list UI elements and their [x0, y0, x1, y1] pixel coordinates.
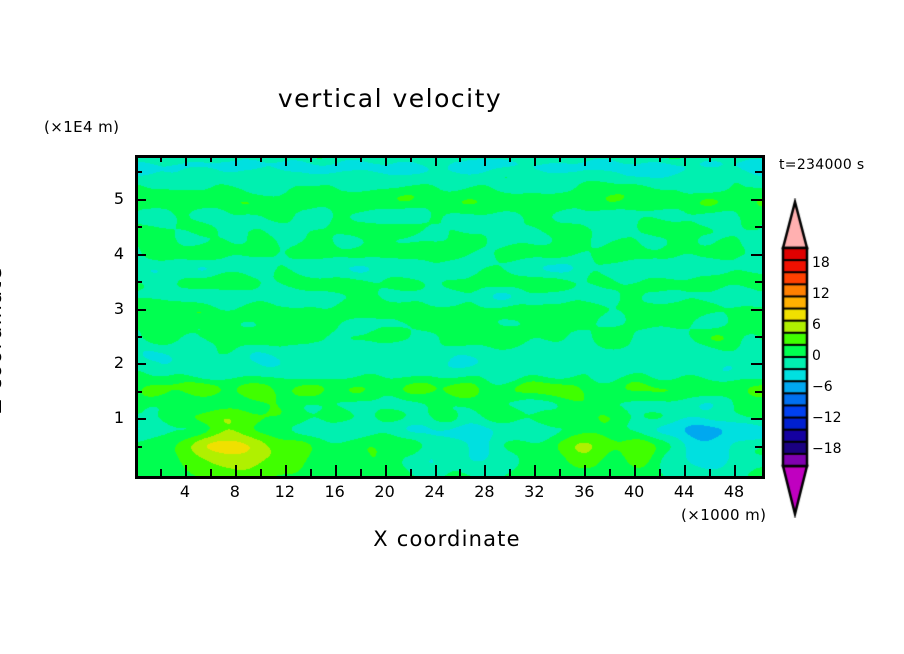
y-minor-tick-right	[755, 336, 762, 338]
y-major-tick-right	[751, 199, 762, 201]
x-minor-tick	[509, 469, 511, 476]
x-minor-tick	[559, 469, 561, 476]
x-minor-tick	[459, 469, 461, 476]
colorbar-tick-label: −12	[812, 410, 842, 426]
y-minor-tick-right	[755, 226, 762, 228]
y-minor-tick	[135, 336, 142, 338]
y-major-tick	[135, 418, 146, 420]
colorbar-tick-label: −18	[812, 441, 842, 457]
x-major-tick-top	[684, 155, 686, 166]
x-tick-label: 16	[315, 482, 355, 501]
x-axis-unit-label: (×1000 m)	[681, 506, 766, 524]
x-tick-label: 40	[614, 482, 654, 501]
x-axis-title: X coordinate	[135, 527, 759, 551]
x-tick-label: 32	[514, 482, 554, 501]
y-minor-tick	[135, 391, 142, 393]
x-major-tick	[335, 465, 337, 476]
x-major-tick	[435, 465, 437, 476]
x-tick-label: 4	[165, 482, 205, 501]
y-major-tick-right	[751, 254, 762, 256]
y-major-tick-right	[751, 309, 762, 311]
y-axis-unit-label: (×1E4 m)	[44, 118, 119, 136]
x-major-tick-top	[385, 155, 387, 166]
y-tick-label: 3	[84, 299, 124, 318]
x-minor-tick-top	[210, 155, 212, 162]
colorbar-tick-label: 18	[812, 255, 830, 271]
y-major-tick-right	[751, 418, 762, 420]
x-minor-tick	[260, 469, 262, 476]
y-tick-label: 5	[84, 189, 124, 208]
x-major-tick	[185, 465, 187, 476]
x-major-tick	[634, 465, 636, 476]
y-minor-tick	[135, 171, 142, 173]
x-major-tick	[285, 465, 287, 476]
x-major-tick	[385, 465, 387, 476]
x-tick-label: 24	[415, 482, 455, 501]
x-major-tick-top	[185, 155, 187, 166]
x-major-tick-top	[435, 155, 437, 166]
colorbar-tick-label: −6	[812, 379, 833, 395]
y-minor-tick-right	[755, 391, 762, 393]
y-tick-label: 4	[84, 244, 124, 263]
x-minor-tick	[360, 469, 362, 476]
timestamp-annotation: t=234000 s	[779, 157, 864, 173]
x-major-tick	[235, 465, 237, 476]
x-minor-tick-top	[659, 155, 661, 162]
y-minor-tick-right	[755, 446, 762, 448]
y-major-tick	[135, 199, 146, 201]
x-minor-tick	[609, 469, 611, 476]
x-minor-tick	[160, 469, 162, 476]
x-tick-label: 36	[564, 482, 604, 501]
x-tick-label: 44	[664, 482, 704, 501]
x-minor-tick-top	[709, 155, 711, 162]
y-axis-title: Z coordinate	[0, 240, 6, 440]
x-major-tick-top	[335, 155, 337, 166]
x-major-tick	[534, 465, 536, 476]
colorbar-tick-label: 0	[812, 348, 821, 364]
y-tick-label: 2	[84, 353, 124, 372]
x-tick-label: 8	[215, 482, 255, 501]
x-major-tick	[484, 465, 486, 476]
chart-title: vertical velocity	[0, 84, 780, 113]
x-minor-tick-top	[459, 155, 461, 162]
x-minor-tick-top	[310, 155, 312, 162]
y-minor-tick	[135, 446, 142, 448]
contour-field-canvas	[138, 158, 762, 476]
x-minor-tick-top	[509, 155, 511, 162]
x-minor-tick-top	[559, 155, 561, 162]
colorbar-tick-label: 6	[812, 317, 821, 333]
figure-root: vertical velocity (×1E4 m) t=234000 s 48…	[0, 0, 904, 654]
x-minor-tick-top	[609, 155, 611, 162]
y-minor-tick	[135, 281, 142, 283]
x-minor-tick-top	[360, 155, 362, 162]
x-tick-label: 28	[464, 482, 504, 501]
x-minor-tick-top	[160, 155, 162, 162]
y-major-tick	[135, 309, 146, 311]
x-major-tick-top	[285, 155, 287, 166]
x-major-tick-top	[584, 155, 586, 166]
y-minor-tick-right	[755, 281, 762, 283]
contour-plot-area[interactable]	[135, 155, 765, 479]
y-major-tick	[135, 254, 146, 256]
y-tick-label: 1	[84, 408, 124, 427]
x-major-tick-top	[734, 155, 736, 166]
x-major-tick-top	[634, 155, 636, 166]
x-minor-tick	[709, 469, 711, 476]
x-tick-label: 12	[265, 482, 305, 501]
x-tick-label: 48	[714, 482, 754, 501]
x-major-tick-top	[484, 155, 486, 166]
y-minor-tick-right	[755, 171, 762, 173]
x-minor-tick-top	[410, 155, 412, 162]
x-major-tick	[734, 465, 736, 476]
x-tick-label: 20	[365, 482, 405, 501]
x-minor-tick	[310, 469, 312, 476]
colorbar-tick-label: 12	[812, 286, 830, 302]
x-minor-tick-top	[260, 155, 262, 162]
x-minor-tick	[659, 469, 661, 476]
x-minor-tick	[410, 469, 412, 476]
x-major-tick	[584, 465, 586, 476]
x-major-tick	[684, 465, 686, 476]
y-minor-tick	[135, 226, 142, 228]
x-major-tick-top	[534, 155, 536, 166]
y-major-tick-right	[751, 363, 762, 365]
x-minor-tick	[210, 469, 212, 476]
x-major-tick-top	[235, 155, 237, 166]
y-major-tick	[135, 363, 146, 365]
